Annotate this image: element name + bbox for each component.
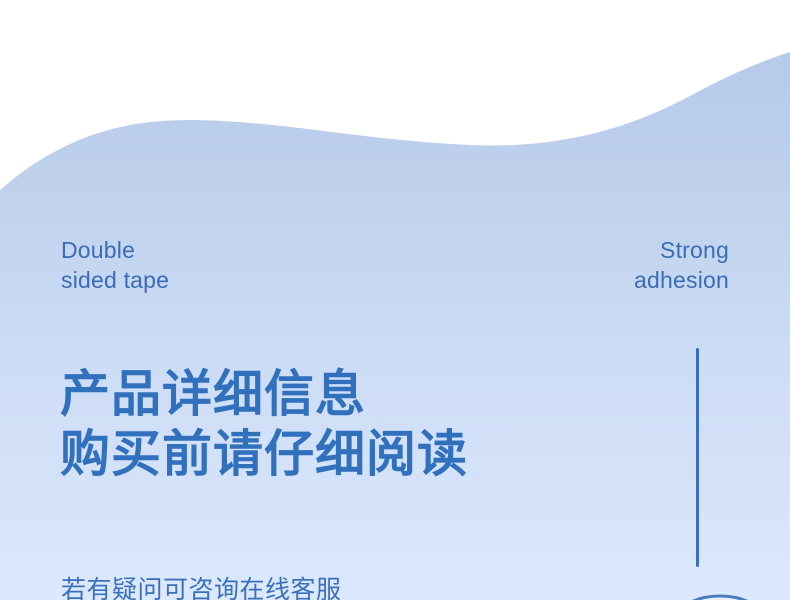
wave-background (0, 0, 790, 600)
caption-right: Strong adhesion (634, 235, 729, 295)
headline-line-1: 产品详细信息 (60, 364, 468, 424)
tape-roll-icon (655, 578, 785, 600)
sub-note: 若有疑问可咨询在线客服 (61, 573, 342, 600)
headline-line-2: 购买前请仔细阅读 (60, 424, 468, 484)
product-detail-banner: Double sided tape Strong adhesion 产品详细信息… (0, 0, 790, 600)
caption-left: Double sided tape (61, 235, 169, 295)
page-title: 产品详细信息 购买前请仔细阅读 (60, 364, 468, 484)
vertical-divider (696, 348, 699, 567)
wave-shape (0, 52, 790, 600)
